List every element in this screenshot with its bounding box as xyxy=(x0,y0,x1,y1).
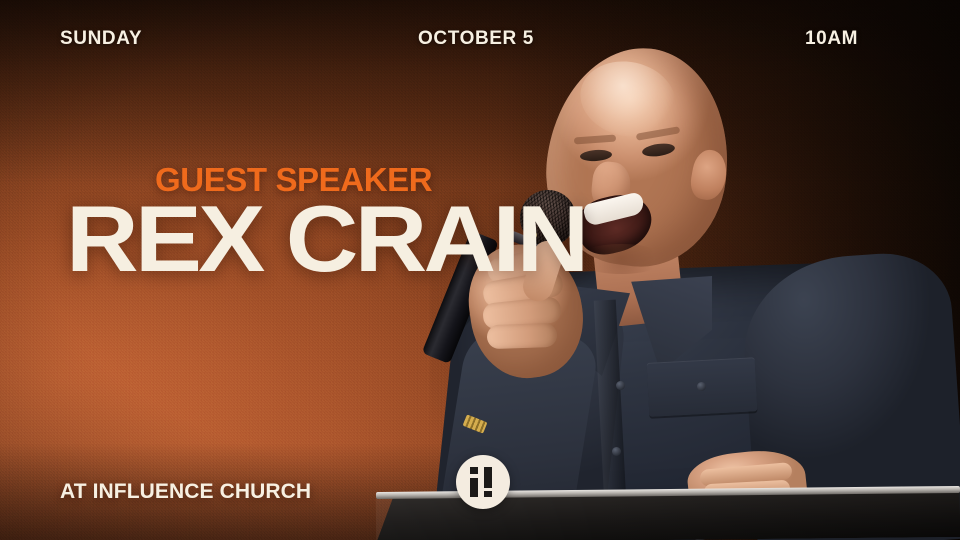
logo-bang-dot xyxy=(484,491,492,497)
speaker-name-headline: REX CRAIN xyxy=(66,196,586,282)
topbar: SUNDAY OCTOBER 5 10AM xyxy=(0,28,960,56)
logo-i-stem xyxy=(470,478,478,497)
event-time: 10AM xyxy=(805,28,858,50)
influence-church-logo-icon xyxy=(456,455,510,509)
logo-i-dot xyxy=(470,467,478,474)
event-date: OCTOBER 5 xyxy=(418,28,534,50)
event-day: SUNDAY xyxy=(60,28,142,50)
venue-label: AT INFLUENCE CHURCH xyxy=(60,480,311,504)
poster-canvas: SUNDAY OCTOBER 5 10AM GUEST SPEAKER REX … xyxy=(0,0,960,540)
logo-bang-stem xyxy=(484,467,492,488)
logo-mark-i-exclaim xyxy=(470,467,496,497)
